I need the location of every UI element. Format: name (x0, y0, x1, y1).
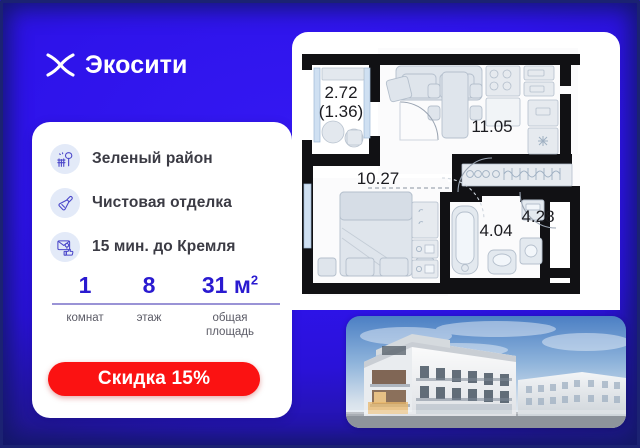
stats-block: 1 8 31 м2 комнат этаж общая площадь (52, 274, 280, 339)
far-building (518, 372, 626, 416)
stat-rooms-label: комнат (52, 311, 118, 340)
discount-button[interactable]: Скидка 15% (48, 362, 260, 396)
stat-area-label: общая площадь (180, 311, 280, 340)
stat-area-value: 31 м2 (180, 274, 280, 297)
x-mark-icon (46, 52, 76, 78)
stat-area-superscript: 2 (251, 272, 258, 287)
feature-list: Зеленый район Чистовая отделка (50, 140, 282, 272)
building-render-image (346, 316, 626, 428)
building-photo[interactable] (346, 316, 626, 428)
stats-values-row: 1 8 31 м2 (52, 274, 280, 303)
stats-labels-row: комнат этаж общая площадь (52, 305, 280, 340)
trowel-icon (50, 188, 80, 218)
feature-item-kremlin-distance: 15 мин. до Кремля (50, 228, 282, 266)
stat-area-label-line2: площадь (180, 325, 280, 339)
feature-label: Зеленый район (92, 150, 213, 168)
hall-area-label: 4.28 (521, 207, 554, 226)
stat-floor-label: этаж (118, 311, 180, 340)
feature-item-finishing: Чистовая отделка (50, 184, 282, 222)
brand-name: Экосити (85, 53, 188, 78)
bedroom-area-label: 10.27 (357, 169, 400, 188)
floor-plan-panel[interactable]: 2.72 (1.36) 11.05 10.27 4.28 4.04 (292, 32, 620, 310)
floor-plan-drawing: 2.72 (1.36) 11.05 10.27 4.28 4.04 (292, 32, 620, 310)
balcony-area-label: 2.72 (324, 83, 357, 102)
listing-card-root: Экосити Зеленый район (0, 0, 640, 448)
plan-wardrobe (462, 164, 572, 186)
map-pin-thumbs-up-icon (50, 232, 80, 262)
stat-rooms-value: 1 (52, 274, 118, 297)
balcony-area-secondary-label: (1.36) (319, 102, 363, 121)
plan-hall-storage (412, 202, 438, 278)
brand-logo[interactable]: Экосити (46, 52, 188, 78)
bathroom-area-label: 4.04 (479, 221, 512, 240)
kitchen-area-label: 11.05 (471, 117, 512, 136)
stat-area-number: 31 м (202, 272, 251, 298)
feature-label: 15 мин. до Кремля (92, 238, 236, 256)
stat-area-label-line1: общая (180, 311, 280, 325)
stat-floor-value: 8 (118, 274, 180, 297)
park-tree-bench-icon (50, 144, 80, 174)
feature-item-green-district: Зеленый район (50, 140, 282, 178)
feature-label: Чистовая отделка (92, 194, 232, 212)
